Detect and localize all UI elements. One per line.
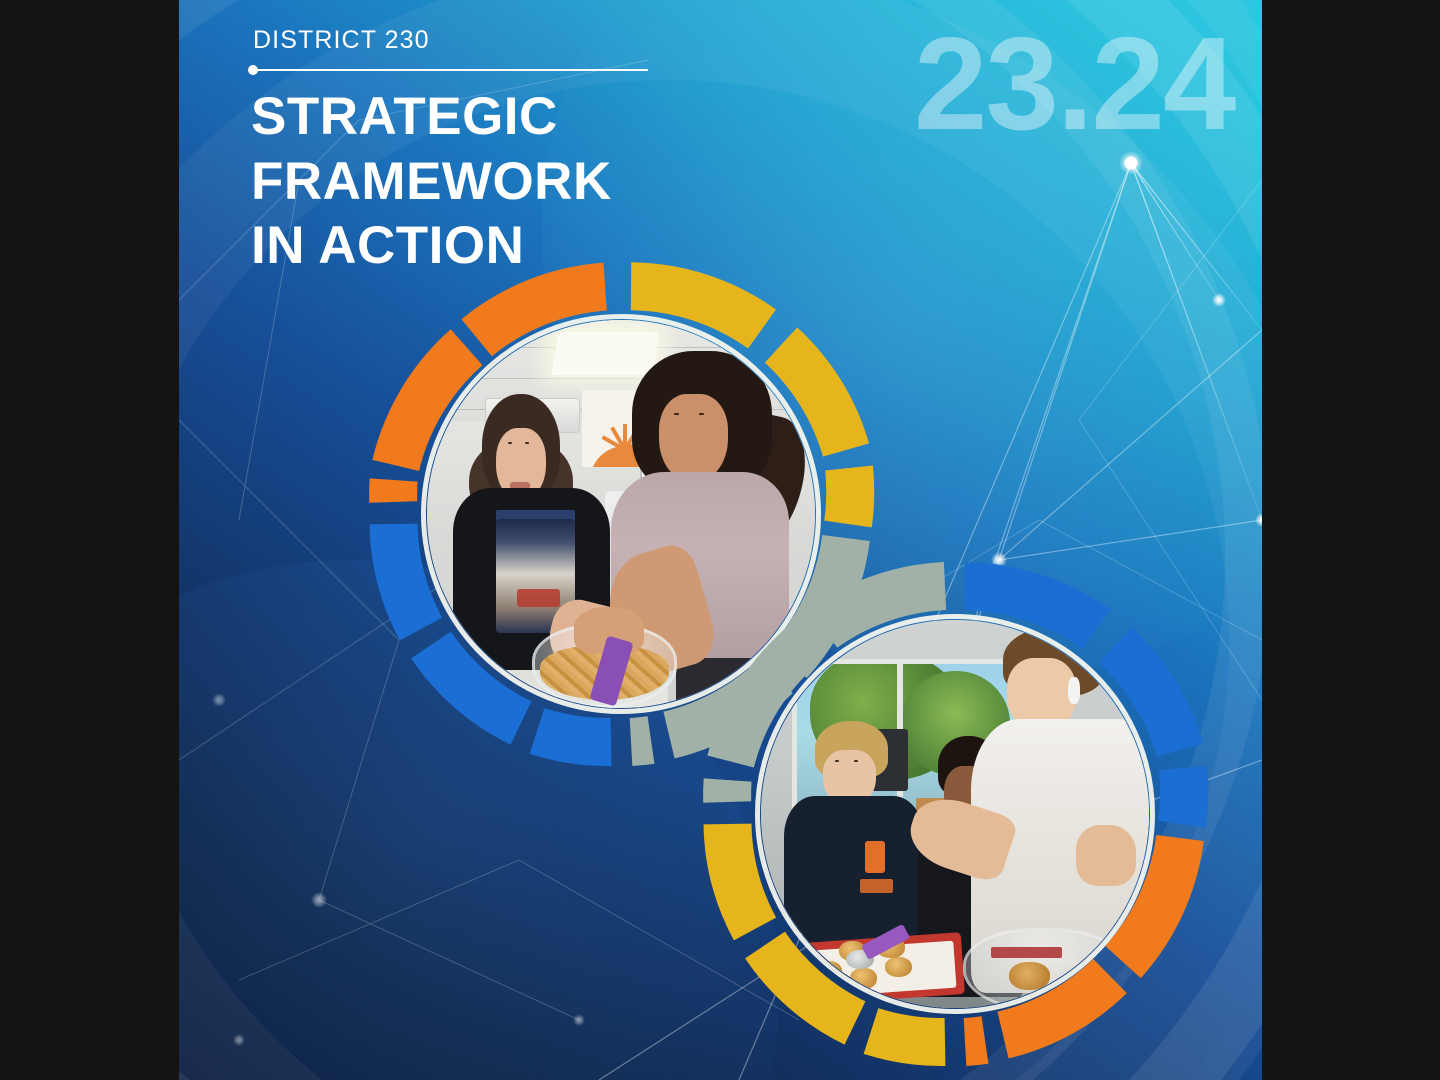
letterbox-left <box>0 0 179 1080</box>
district-kicker: DISTRICT 230 <box>253 28 718 53</box>
figure-bottom-circle <box>703 562 1207 1066</box>
title-line-1: STRATEGIC <box>251 85 718 150</box>
photo-bottom-circle <box>761 620 1149 1008</box>
poster-header: DISTRICT 230 STRATEGIC FRAMEWORK IN ACTI… <box>248 28 718 279</box>
header-rule-line <box>253 69 648 71</box>
title-line-2: FRAMEWORK <box>251 150 718 215</box>
screenshot-stage: 23.24 DISTRICT 230 STRATEGIC FRAMEWORK I… <box>0 0 1440 1080</box>
header-rule <box>248 65 648 75</box>
photo-bottom-content <box>761 620 1149 1008</box>
year-label: 23.24 <box>914 18 1234 150</box>
page-title: STRATEGIC FRAMEWORK IN ACTION <box>251 85 718 279</box>
poster-canvas: 23.24 DISTRICT 230 STRATEGIC FRAMEWORK I… <box>179 0 1262 1080</box>
letterbox-right <box>1262 0 1440 1080</box>
